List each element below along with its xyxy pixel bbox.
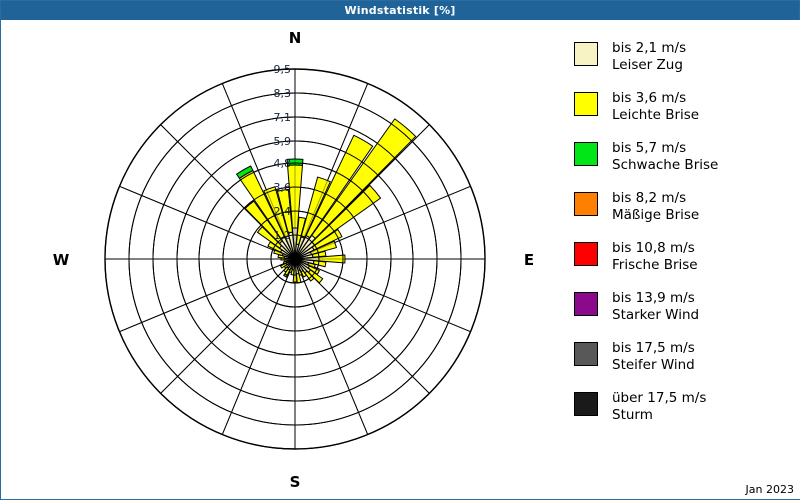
polar-grid-overlay [105, 69, 485, 449]
compass-label-north: N [289, 29, 302, 47]
wind-statistics-window: Windstatistik [%] 1,22,43,64,85,97,18,39… [0, 0, 800, 500]
legend-item[interactable]: bis 8,2 m/s Mäßige Brise [574, 190, 798, 231]
legend-label-4: bis 10,8 m/s Frische Brise [612, 240, 698, 274]
radial-tick-label: 2,4 [274, 205, 292, 218]
window-title: Windstatistik [%] [344, 4, 455, 17]
legend-item[interactable]: bis 5,7 m/s Schwache Brise [574, 140, 798, 181]
legend-swatch-6 [574, 342, 598, 366]
window-title-bar: Windstatistik [%] [1, 1, 799, 20]
legend-item[interactable]: bis 3,6 m/s Leichte Brise [574, 90, 798, 131]
legend-label-3: bis 8,2 m/s Mäßige Brise [612, 190, 699, 224]
legend-swatch-4 [574, 242, 598, 266]
radial-tick-label: 1,2 [274, 229, 292, 242]
legend-label-5: bis 13,9 m/s Starker Wind [612, 290, 699, 324]
legend-item[interactable]: bis 2,1 m/s Leiser Zug [574, 40, 798, 81]
wind-rose-chart: 1,22,43,64,85,97,18,39,5NSWE [2, 20, 572, 499]
legend-label-1: bis 3,6 m/s Leichte Brise [612, 90, 699, 124]
compass-label-south: S [290, 473, 301, 491]
legend-label-0: bis 2,1 m/s Leiser Zug [612, 40, 686, 74]
legend-swatch-3 [574, 192, 598, 216]
radial-tick-label: 3,6 [274, 181, 292, 194]
legend-swatch-2 [574, 142, 598, 166]
legend-item[interactable]: bis 13,9 m/s Starker Wind [574, 290, 798, 331]
legend-label-7: über 17,5 m/s Sturm [612, 390, 706, 424]
radial-tick-label: 5,9 [274, 135, 292, 148]
wind-rose-svg: 1,22,43,64,85,97,18,39,5NSWE [2, 20, 572, 499]
compass-label-west: W [53, 251, 70, 269]
compass-label-east: E [524, 251, 534, 269]
legend-item[interactable]: über 17,5 m/s Sturm [574, 390, 798, 431]
date-stamp: Jan 2023 [746, 483, 794, 496]
radial-tick-label: 9,5 [274, 63, 292, 76]
legend-label-6: bis 17,5 m/s Steifer Wind [612, 340, 695, 374]
legend-swatch-0 [574, 42, 598, 66]
legend-swatch-5 [574, 292, 598, 316]
radial-tick-label: 4,8 [274, 157, 292, 170]
legend-label-2: bis 5,7 m/s Schwache Brise [612, 140, 718, 174]
plot-area: 1,22,43,64,85,97,18,39,5NSWE bis 2,1 m/s… [2, 20, 800, 499]
radial-tick-label: 7,1 [274, 111, 292, 124]
radial-tick-label: 8,3 [274, 87, 292, 100]
legend-item[interactable]: bis 17,5 m/s Steifer Wind [574, 340, 798, 381]
legend: bis 2,1 m/s Leiser Zug bis 3,6 m/s Leich… [574, 40, 798, 420]
legend-swatch-1 [574, 92, 598, 116]
legend-item[interactable]: bis 10,8 m/s Frische Brise [574, 240, 798, 281]
legend-swatch-7 [574, 392, 598, 416]
